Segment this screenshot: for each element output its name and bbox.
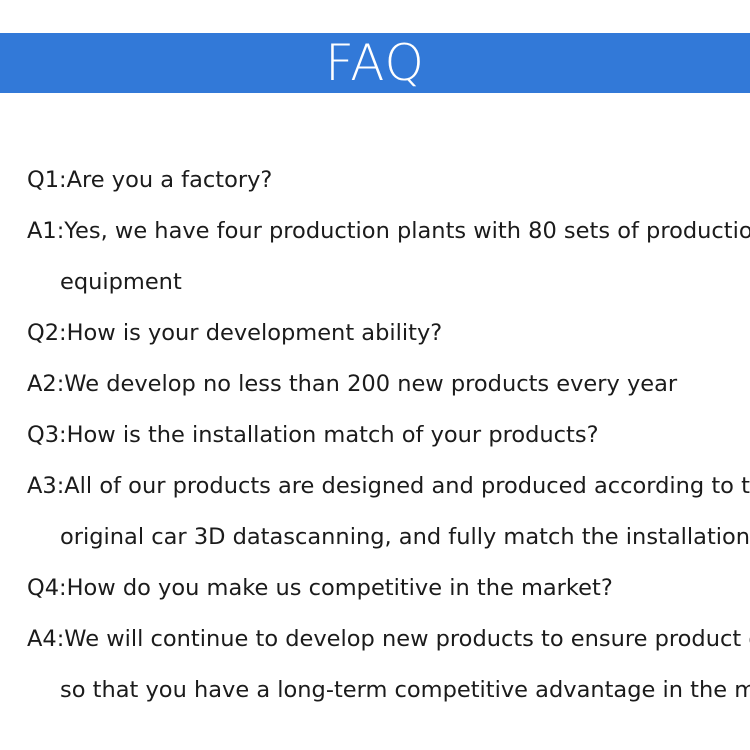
faq-line: A1:Yes, we have four production plants w…: [0, 206, 750, 257]
faq-line: A4:We will continue to develop new produ…: [0, 614, 750, 665]
faq-line: Q3:How is the installation match of your…: [0, 410, 750, 461]
faq-line: A3:All of our products are designed and …: [0, 461, 750, 512]
faq-line: Q2:How is your development ability?: [0, 308, 750, 359]
faq-content: Q1:Are you a factory?A1:Yes, we have fou…: [0, 155, 750, 716]
page-title: FAQ: [325, 33, 425, 93]
faq-line: original car 3D datascanning, and fully …: [0, 512, 750, 563]
faq-header-banner: FAQ: [0, 33, 750, 93]
faq-line: so that you have a long-term competitive…: [0, 665, 750, 716]
faq-line: Q4:How do you make us competitive in the…: [0, 563, 750, 614]
faq-line: Q1:Are you a factory?: [0, 155, 750, 206]
faq-line: A2:We develop no less than 200 new produ…: [0, 359, 750, 410]
faq-page: FAQ Q1:Are you a factory?A1:Yes, we have…: [0, 0, 750, 750]
faq-line: equipment: [0, 257, 750, 308]
